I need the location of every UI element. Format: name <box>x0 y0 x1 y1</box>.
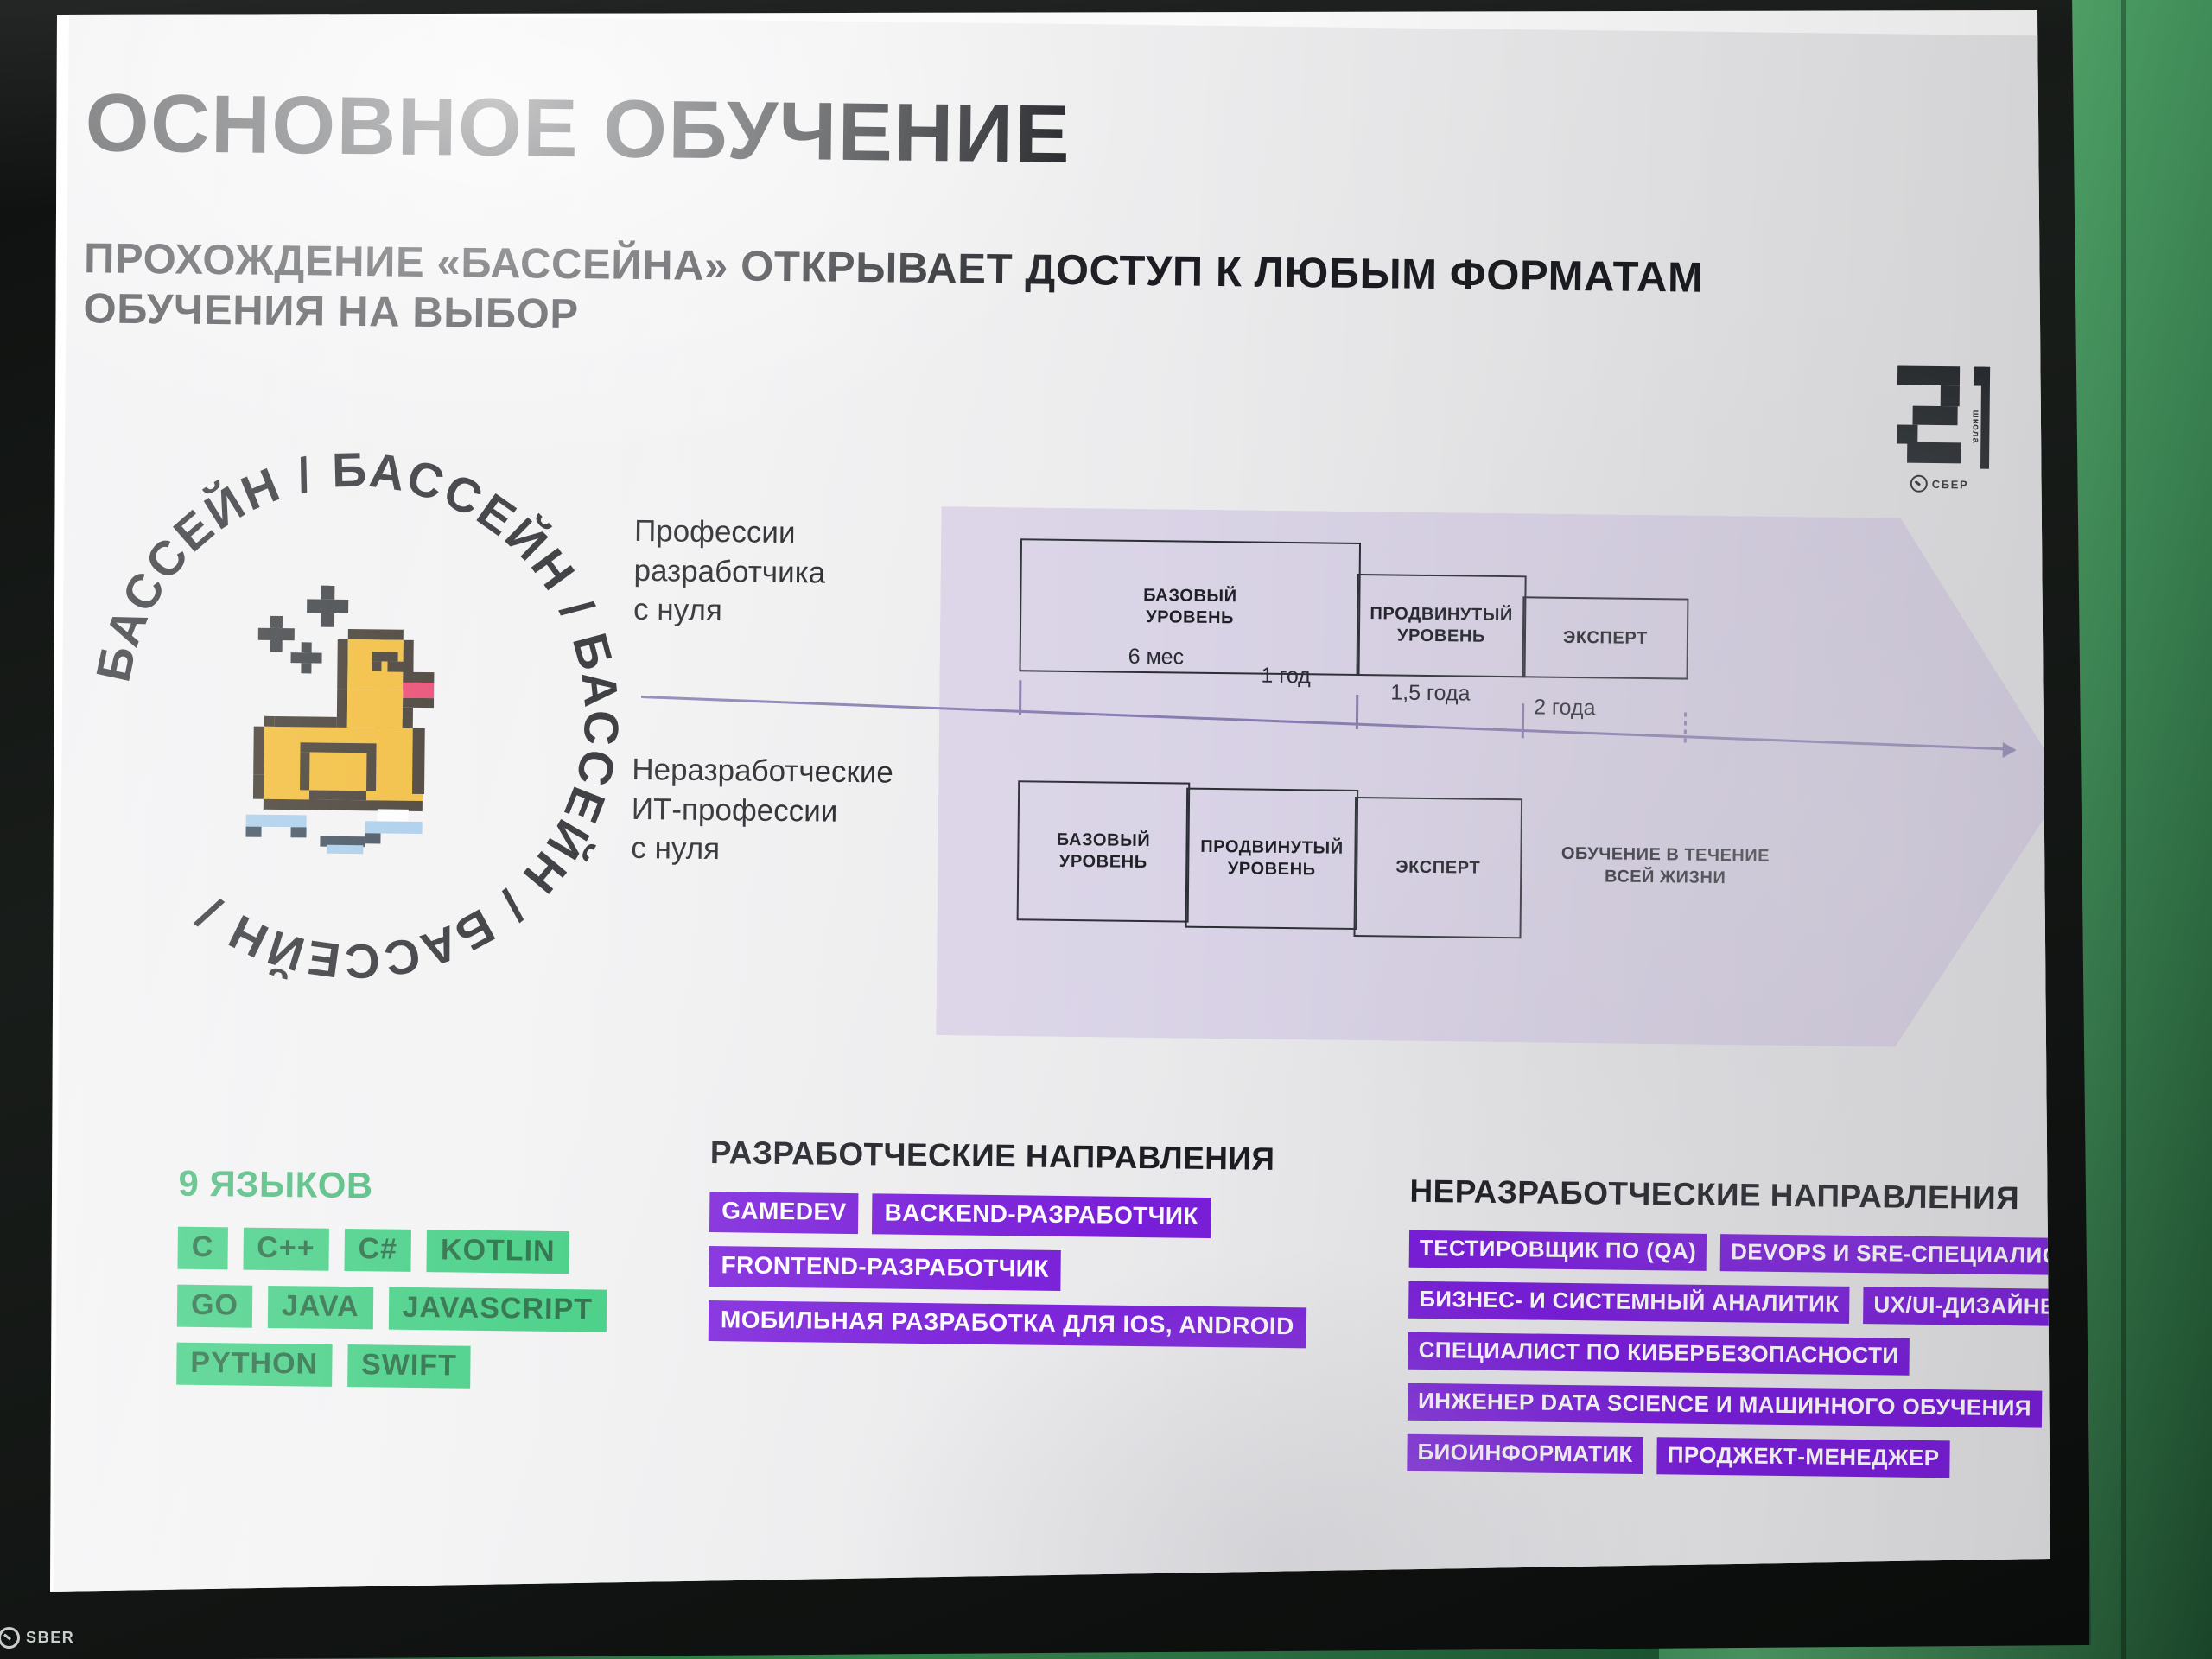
dev-tag-row: GAMEDEV BACKEND-РАЗРАБОТЧИК <box>709 1192 1332 1240</box>
wall-seam <box>2121 0 2126 1659</box>
language-chip-row: PYTHON SWIFT <box>176 1343 660 1391</box>
nondev-direction-tag[interactable]: ТЕСТИРОВЩИК ПО (QA) <box>1409 1230 1707 1271</box>
dev-directions-section: РАЗРАБОТЧЕСКИЕ НАПРАВЛЕНИЯ GAMEDEV BACKE… <box>709 1135 1333 1363</box>
timeline-tick-1 <box>1356 695 1358 729</box>
language-chip[interactable]: JAVASCRIPT <box>388 1287 607 1332</box>
learning-timeline: Профессии разработчика с нуля БАЗОВЫЙ УР… <box>629 503 2055 1073</box>
language-chip[interactable]: SWIFT <box>347 1344 471 1389</box>
language-chip-row: C C++ C# KOTLIN <box>177 1227 661 1275</box>
nondev-direction-tag[interactable]: UX/UI-ДИЗАЙНЕР <box>1863 1287 2055 1326</box>
language-chip[interactable]: PYTHON <box>176 1343 332 1387</box>
nondev-direction-tag[interactable]: DEVOPS И SRE-СПЕЦИАЛИСТ <box>1720 1234 2055 1275</box>
tv-footer-brand: SBER <box>0 1624 111 1650</box>
language-chip[interactable]: C <box>177 1227 227 1270</box>
timeline-tick-2 <box>1522 703 1524 738</box>
slide-screen: ОСНОВНОЕ ОБУЧЕНИЕ ПРОХОЖДЕНИЕ «БАССЕЙНА»… <box>0 3 2055 1598</box>
timeline-tick-label-1: 1 год <box>1261 664 1311 690</box>
level-box-dev-advanced: ПРОДВИНУТЫЙ УРОВЕНЬ <box>1357 574 1527 677</box>
sber-brand-label: СБЕР <box>1932 477 1969 491</box>
level-box-dev-expert: ЭКСПЕРТ <box>1522 596 1689 679</box>
nondev-tag-row: БИОИНФОРМАТИК ПРОДЖЕКТ-МЕНЕДЖЕР <box>1407 1434 2037 1479</box>
lifelong-learning-label: ОБУЧЕНИЕ В ТЕЧЕНИЕ ВСЕЙ ЖИЗНИ <box>1535 842 1796 890</box>
nondev-direction-tag[interactable]: ПРОДЖЕКТ-МЕНЕДЖЕР <box>1657 1437 1950 1478</box>
footer-brand-label: SBER <box>26 1629 74 1647</box>
timeline-tick-label-0: 6 мес <box>1128 645 1185 671</box>
languages-section: 9 ЯЗЫКОВ C C++ C# KOTLIN GO JAVA JAVASCR… <box>176 1163 663 1407</box>
timeline-arrow-head <box>2003 742 2017 758</box>
languages-title: 9 ЯЗЫКОВ <box>178 1163 662 1211</box>
sber-ring-icon <box>1910 475 1928 493</box>
dev-tag-row: МОБИЛЬНАЯ РАЗРАБОТКА ДЛЯ IOS, ANDROID <box>709 1300 1331 1349</box>
tv-display: ОСНОВНОЕ ОБУЧЕНИЕ ПРОХОЖДЕНИЕ «БАССЕЙНА»… <box>0 0 2089 1659</box>
basseyn-badge: БАССЕЙН / БАССЕЙН / БАССЕЙН / БАССЕЙН / <box>86 444 626 986</box>
nondev-tag-row: ИНЖЕНЕР DATA SCIENCE И МАШИННОГО ОБУЧЕНИ… <box>1408 1383 2038 1428</box>
logo-shkola-label: школа <box>1967 385 1983 468</box>
language-chip[interactable]: C# <box>344 1229 411 1272</box>
language-chip[interactable]: KOTLIN <box>427 1230 569 1274</box>
timeline-tick-label-2: 1,5 года <box>1390 680 1470 706</box>
level-box-nondev-advanced: ПРОДВИНУТЫЙ УРОВЕНЬ <box>1185 788 1359 930</box>
dev-direction-tag[interactable]: МОБИЛЬНАЯ РАЗРАБОТКА ДЛЯ IOS, ANDROID <box>709 1300 1306 1348</box>
nondev-tag-row: ТЕСТИРОВЩИК ПО (QA) DEVOPS И SRE-СПЕЦИАЛ… <box>1409 1230 2040 1275</box>
nondev-directions-title: НЕРАЗРАБОТЧЕСКИЕ НАПРАВЛЕНИЯ <box>1409 1173 2040 1217</box>
timeline-tick-label-3: 2 года <box>1534 695 1596 721</box>
timeline-tick-0 <box>1019 680 1021 715</box>
dev-direction-tag[interactable]: GAMEDEV <box>709 1192 859 1234</box>
nondev-direction-tag[interactable]: БИЗНЕС- И СИСТЕМНЫЙ АНАЛИТИК <box>1408 1281 1850 1324</box>
nondev-direction-tag[interactable]: СПЕЦИАЛИСТ ПО КИБЕРБЕЗОПАСНОСТИ <box>1408 1332 1909 1376</box>
nondev-direction-tag[interactable]: БИОИНФОРМАТИК <box>1407 1434 1643 1474</box>
language-chip[interactable]: JAVA <box>268 1286 373 1329</box>
level-box-dev-basic: БАЗОВЫЙ УРОВЕНЬ <box>1020 538 1362 676</box>
dev-direction-tag[interactable]: BACKEND-РАЗРАБОТЧИК <box>872 1193 1211 1238</box>
language-chip-row: GO JAVA JAVASCRIPT <box>177 1285 661 1333</box>
language-chip[interactable]: C++ <box>243 1228 329 1271</box>
nondev-tag-row: БИЗНЕС- И СИСТЕМНЫЙ АНАЛИТИК UX/UI-ДИЗАЙ… <box>1408 1281 2039 1326</box>
page-title: ОСНОВНОЕ ОБУЧЕНИЕ <box>85 81 1382 181</box>
sber-logo: СБЕР <box>1910 475 1969 493</box>
sber-ring-icon <box>0 1627 20 1649</box>
slide-canvas: ОСНОВНОЕ ОБУЧЕНИЕ ПРОХОЖДЕНИЕ «БАССЕЙНА»… <box>53 12 2055 1598</box>
dev-direction-tag[interactable]: FRONTEND-РАЗРАБОТЧИК <box>709 1246 1061 1291</box>
nondev-direction-tag[interactable]: ИНЖЕНЕР DATA SCIENCE И МАШИННОГО ОБУЧЕНИ… <box>1408 1383 2042 1428</box>
school-21-logo: школа СБЕР <box>1897 360 2011 505</box>
language-chip[interactable]: GO <box>177 1285 252 1328</box>
photo-scene: ОСНОВНОЕ ОБУЧЕНИЕ ПРОХОЖДЕНИЕ «БАССЕЙНА»… <box>0 0 2212 1659</box>
timeline-row-label-dev: Профессии разработчика с нуля <box>633 512 928 633</box>
page-subtitle: ПРОХОЖДЕНИЕ «БАССЕЙНА» ОТКРЫВАЕТ ДОСТУП … <box>83 233 1777 355</box>
dev-directions-title: РАЗРАБОТЧЕСКИЕ НАПРАВЛЕНИЯ <box>710 1135 1332 1179</box>
timeline-row-label-nondev: Неразработческие ИТ-профессии с нуля <box>631 750 943 872</box>
pixel-duck-icon <box>216 575 495 855</box>
dev-tag-row: FRONTEND-РАЗРАБОТЧИК <box>709 1246 1331 1294</box>
nondev-directions-section: НЕРАЗРАБОТЧЕСКИЕ НАПРАВЛЕНИЯ ТЕСТИРОВЩИК… <box>1407 1173 2041 1493</box>
level-box-nondev-expert: ЭКСПЕРТ <box>1353 797 1522 938</box>
nondev-tag-row: СПЕЦИАЛИСТ ПО КИБЕРБЕЗОПАСНОСТИ <box>1408 1332 2038 1377</box>
level-box-nondev-basic: БАЗОВЫЙ УРОВЕНЬ <box>1017 780 1191 922</box>
timeline-tick-3 <box>1684 713 1687 747</box>
